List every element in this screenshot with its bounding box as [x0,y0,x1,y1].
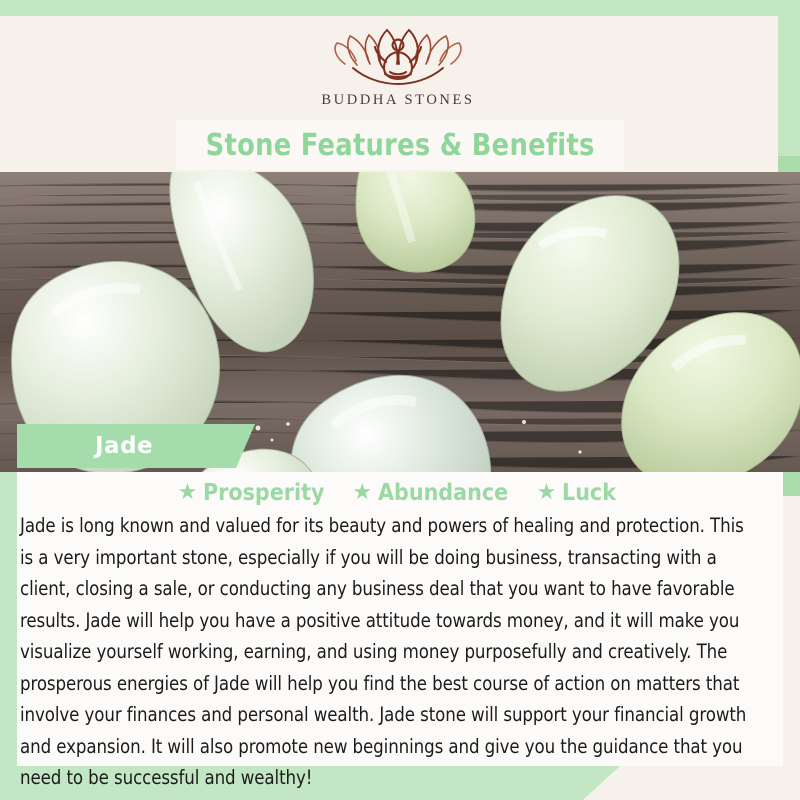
stone-name-banner: Jade [17,424,255,468]
benefit-item-luck: ★ Luck [537,480,623,506]
star-icon: ★ [352,482,372,504]
benefit-item-prosperity: ★ Prosperity [178,480,339,506]
frame-right-bar-upper [778,0,800,172]
star-icon: ★ [178,482,198,504]
stone-name: Jade [95,433,153,459]
star-icon: ★ [537,482,557,504]
benefits-list: ★ Prosperity ★ Abundance ★ Luck [17,480,783,506]
page-title: Stone Features & Benefits [206,128,595,163]
benefit-label: Prosperity [203,480,324,506]
frame-left-bar-lower [0,455,17,800]
brand-header: BUDDHA STONES [18,16,778,120]
stone-content-panel: ★ Prosperity ★ Abundance ★ Luck Jade is … [17,472,783,766]
stone-description: Jade is long known and valued for its be… [20,510,757,794]
stone-info-poster: BUDDHA STONES Stone Features & Benefits [0,0,800,800]
page-title-banner: Stone Features & Benefits [176,120,624,170]
frame-top-bar [0,0,800,16]
benefit-label: Luck [562,480,616,506]
benefit-item-abundance: ★ Abundance [352,480,522,506]
lotus-meditation-logo-icon [323,24,473,90]
brand-logo: BUDDHA STONES [18,24,778,109]
benefit-label: Abundance [378,480,508,506]
brand-name: BUDDHA STONES [321,92,474,109]
